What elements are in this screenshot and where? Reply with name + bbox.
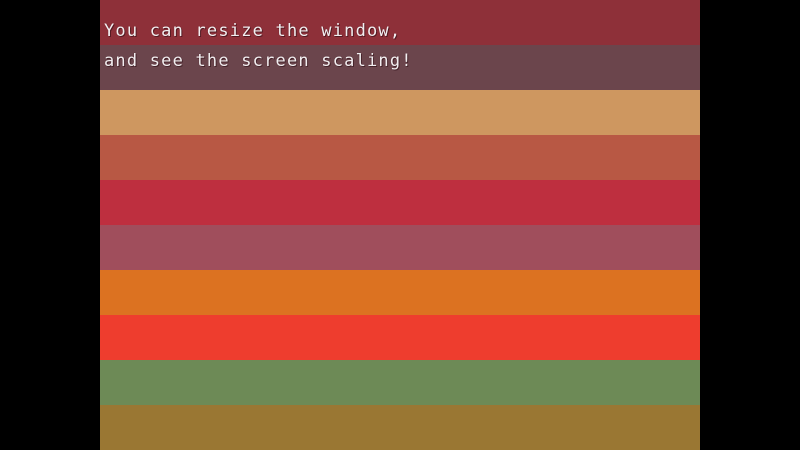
band-orange [100,270,700,315]
band-olive [100,405,700,450]
letterbox-pillar-right [700,0,800,450]
letterbox-pillar-left [0,0,100,450]
band-tan [100,90,700,135]
color-band-stack [100,0,700,450]
app-window: You can resize the window, and see the s… [0,0,800,450]
band-mauve [100,225,700,270]
scaled-viewport: You can resize the window, and see the s… [100,0,700,450]
band-dark-red [100,0,700,45]
band-green [100,360,700,405]
band-red [100,315,700,360]
band-brick [100,135,700,180]
band-crimson [100,180,700,225]
band-plum [100,45,700,90]
